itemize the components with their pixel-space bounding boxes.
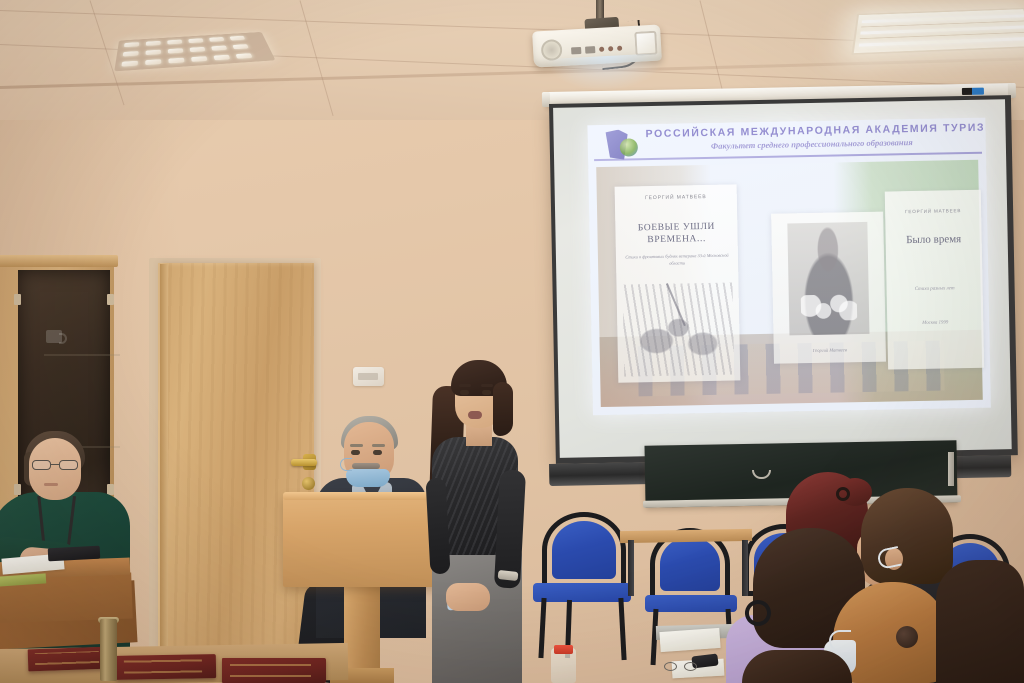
book-left-cover-art bbox=[622, 283, 734, 377]
eyeglasses-icon bbox=[32, 460, 78, 470]
face-mask-lowered-icon bbox=[346, 469, 390, 487]
housing-brand-label bbox=[962, 88, 984, 95]
wooden-podium bbox=[283, 495, 451, 587]
door-reveal-edge bbox=[160, 264, 168, 682]
book-right-imprint: Москва 1999 bbox=[887, 320, 983, 327]
book-left-subtitle: Стихи о фронтовых буднях ветерана 33-й М… bbox=[624, 253, 730, 268]
chalkboard-bracket bbox=[948, 452, 954, 486]
projection-screen: РОССИЙСКАЯ МЕЖДУНАРОДНАЯ АКАДЕМИЯ ТУРИЗМ… bbox=[549, 95, 1018, 464]
veteran-photo bbox=[787, 222, 869, 336]
book-right-subtitle: Стихи разных лет bbox=[887, 286, 983, 293]
slide-header: РОССИЙСКАЯ МЕЖДУНАРОДНАЯ АКАДЕМИЯ ТУРИЗМ… bbox=[587, 118, 986, 166]
screen-surface: РОССИЙСКАЯ МЕЖДУНАРОДНАЯ АКАДЕМИЯ ТУРИЗМ… bbox=[553, 99, 1012, 458]
hair-scrunchie-icon bbox=[896, 626, 918, 648]
slide-divider-rule bbox=[594, 152, 982, 161]
red-hardcover-book[interactable] bbox=[116, 654, 216, 680]
presentation-slide: РОССИЙСКАЯ МЕЖДУНАРОДНАЯ АКАДЕМИЯ ТУРИЗМ… bbox=[587, 118, 990, 416]
fluorescent-panel-light-icon bbox=[851, 8, 1024, 55]
projector-light-beam bbox=[547, 53, 667, 93]
door-handle-icon[interactable] bbox=[291, 459, 317, 466]
door-lock-icon[interactable] bbox=[302, 477, 315, 490]
book-left-author: ГЕОРГИЙ МАТВЕЕВ bbox=[615, 193, 737, 201]
mug-in-cabinet bbox=[46, 330, 62, 343]
veteran-photo-caption: Георгий Матвеев bbox=[774, 347, 886, 354]
slide-book-cover-right: ГЕОРГИЙ МАТВЕЕВ Было время Стихи разных … bbox=[885, 190, 984, 370]
rmat-logo-icon bbox=[606, 129, 641, 160]
slide-book-cover-left: ГЕОРГИЙ МАТВЕЕВ БОЕВЫЕ УШЛИ ВРЕМЕНА... С… bbox=[615, 184, 741, 382]
classroom-scene: РОССИЙСКАЯ МЕЖДУНАРОДНАЯ АКАДЕМИЯ ТУРИЗМ… bbox=[0, 0, 1024, 683]
book-left-title: БОЕВЫЕ УШЛИ ВРЕМЕНА... bbox=[615, 220, 737, 247]
slide-veteran-portrait: Георгий Матвеев bbox=[771, 212, 886, 364]
red-hardcover-book[interactable] bbox=[28, 647, 111, 672]
audience-desk-back bbox=[620, 529, 752, 543]
bottle-cap-icon bbox=[554, 645, 573, 654]
hair-tie-icon bbox=[836, 487, 850, 501]
wristwatch-icon bbox=[498, 570, 519, 581]
paper-on-audience-desk bbox=[659, 628, 720, 652]
brass-shell-casing[interactable] bbox=[100, 619, 117, 681]
red-hardcover-book[interactable] bbox=[222, 658, 326, 683]
notebook-on-desk bbox=[48, 546, 101, 562]
wooden-door[interactable] bbox=[158, 263, 314, 683]
book-right-title: Было время bbox=[886, 232, 982, 249]
book-right-author: ГЕОРГИЙ МАТВЕЕВ bbox=[885, 208, 981, 215]
projector-lens-icon bbox=[634, 31, 657, 56]
wall-switch-plate[interactable] bbox=[353, 367, 384, 386]
glasses-on-desk-icon bbox=[664, 662, 698, 672]
cabinet-top bbox=[0, 255, 118, 267]
